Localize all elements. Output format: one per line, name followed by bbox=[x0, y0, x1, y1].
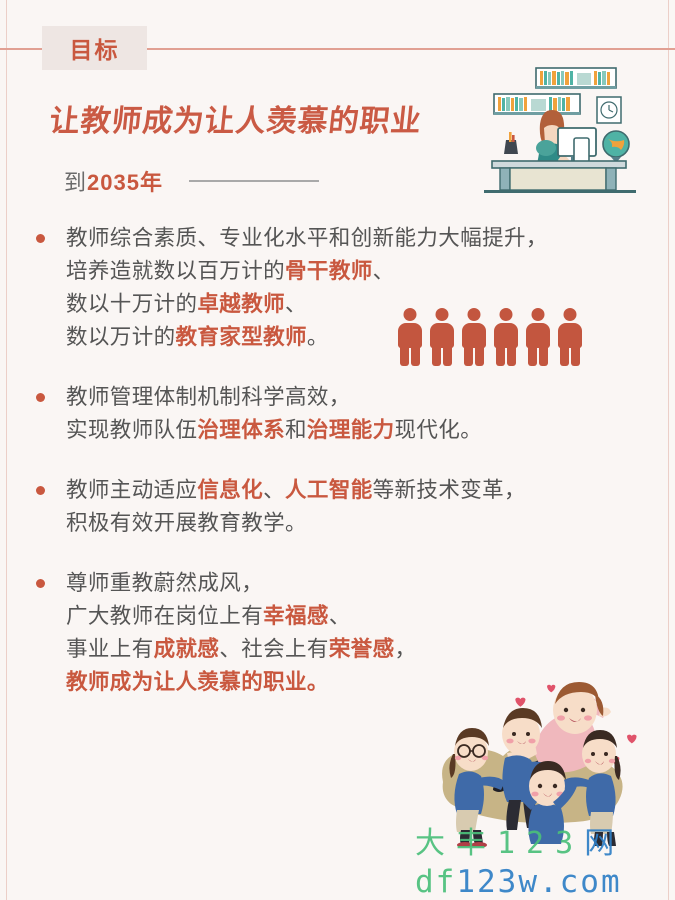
bullet-dot-icon bbox=[36, 579, 45, 588]
highlighted-term: 教师成为让人羡慕的职业。 bbox=[66, 670, 329, 694]
body-text: 教师主动适应 bbox=[66, 478, 197, 502]
student-figure bbox=[449, 728, 505, 847]
body-text: 、社会上有 bbox=[219, 637, 329, 661]
body-text: 尊师重教蔚然成风， bbox=[66, 571, 263, 595]
highlighted-term: 荣誉感 bbox=[329, 637, 395, 661]
body-text: 教师管理体制机制科学高效， bbox=[66, 385, 351, 409]
highlighted-term: 骨干教师 bbox=[285, 259, 373, 283]
page-title: 让教师成为让人羡慕的职业 bbox=[48, 96, 425, 140]
bullet-line: 培养造就数以百万计的骨干教师、 bbox=[66, 255, 655, 288]
highlighted-term: 治理能力 bbox=[307, 418, 395, 442]
body-text: 积极有效开展教育教学。 bbox=[66, 511, 307, 535]
bullet-line: 实现教师队伍治理体系和治理能力现代化。 bbox=[66, 414, 655, 447]
highlighted-term: 人工智能 bbox=[285, 478, 373, 502]
body-text: 和 bbox=[285, 418, 307, 442]
watermark-line-2: df123w.com bbox=[415, 864, 670, 900]
section-badge-label: 目标 bbox=[42, 26, 147, 70]
watermark-line-2-b: 123w.com bbox=[456, 864, 621, 900]
students-teacher-illustration bbox=[425, 662, 675, 847]
bullet-line: 教师综合素质、专业化水平和创新能力大幅提升， bbox=[66, 222, 655, 255]
highlighted-term: 卓越教师 bbox=[197, 292, 285, 316]
subtitle-divider-line bbox=[189, 180, 319, 181]
bullet-item: 教师主动适应信息化、人工智能等新技术变革，积极有效开展教育教学。 bbox=[30, 474, 655, 540]
bullet-item: 教师管理体制机制科学高效，实现教师队伍治理体系和治理能力现代化。 bbox=[30, 381, 655, 447]
body-text: 实现教师队伍 bbox=[66, 418, 197, 442]
subtitle: 到2035年 bbox=[64, 165, 163, 197]
infographic-page: 目标 让教师成为让人羡慕的职业 到2035年 bbox=[0, 0, 675, 900]
bullet-line: 教师管理体制机制科学高效， bbox=[66, 381, 655, 414]
bullet-dot-icon bbox=[36, 234, 45, 243]
bullet-dot-icon bbox=[36, 393, 45, 402]
left-border-line bbox=[6, 0, 7, 900]
highlighted-term: 信息化 bbox=[197, 478, 263, 502]
body-text: 。 bbox=[307, 325, 329, 349]
bullet-line: 数以十万计的卓越教师、 bbox=[66, 288, 655, 321]
watermark-line-2-a: df bbox=[415, 864, 456, 900]
bullet-line: 积极有效开展教育教学。 bbox=[66, 507, 655, 540]
subtitle-row: 到2035年 bbox=[64, 165, 319, 197]
bullet-line: 尊师重教蔚然成风， bbox=[66, 567, 655, 600]
bullet-line: 广大教师在岗位上有幸福感、 bbox=[66, 600, 655, 633]
body-text: 教师综合素质、专业化水平和创新能力大幅提升， bbox=[66, 226, 548, 250]
subtitle-prefix: 到 bbox=[64, 170, 87, 195]
highlighted-term: 治理体系 bbox=[197, 418, 285, 442]
body-text: 现代化。 bbox=[395, 418, 483, 442]
goal-bullet-list: 教师综合素质、专业化水平和创新能力大幅提升，培养造就数以百万计的骨干教师、数以十… bbox=[30, 222, 655, 726]
bullet-line: 教师主动适应信息化、人工智能等新技术变革， bbox=[66, 474, 655, 507]
body-text: 数以万计的 bbox=[66, 325, 176, 349]
body-text: 广大教师在岗位上有 bbox=[66, 604, 263, 628]
body-text: 数以十万计的 bbox=[66, 292, 197, 316]
subtitle-year: 2035年 bbox=[87, 170, 163, 195]
body-text: 、 bbox=[285, 292, 307, 316]
body-text: 、 bbox=[373, 259, 395, 283]
bullet-dot-icon bbox=[36, 486, 45, 495]
body-text: 、 bbox=[263, 478, 285, 502]
body-text: 等新技术变革， bbox=[373, 478, 526, 502]
highlighted-term: 教育家型教师 bbox=[176, 325, 307, 349]
body-text: 、 bbox=[329, 604, 351, 628]
bullet-line: 数以万计的教育家型教师。 bbox=[66, 321, 655, 354]
highlighted-term: 幸福感 bbox=[263, 604, 329, 628]
body-text: 事业上有 bbox=[66, 637, 154, 661]
highlighted-term: 成就感 bbox=[154, 637, 220, 661]
body-text: 培养造就数以百万计的 bbox=[66, 259, 285, 283]
teacher-desk-svg bbox=[470, 62, 650, 197]
teacher-desk-illustration bbox=[470, 62, 650, 197]
students-teacher-svg bbox=[425, 662, 675, 847]
body-text: ， bbox=[395, 637, 417, 661]
bullet-item: 教师综合素质、专业化水平和创新能力大幅提升，培养造就数以百万计的骨干教师、数以十… bbox=[30, 222, 655, 354]
